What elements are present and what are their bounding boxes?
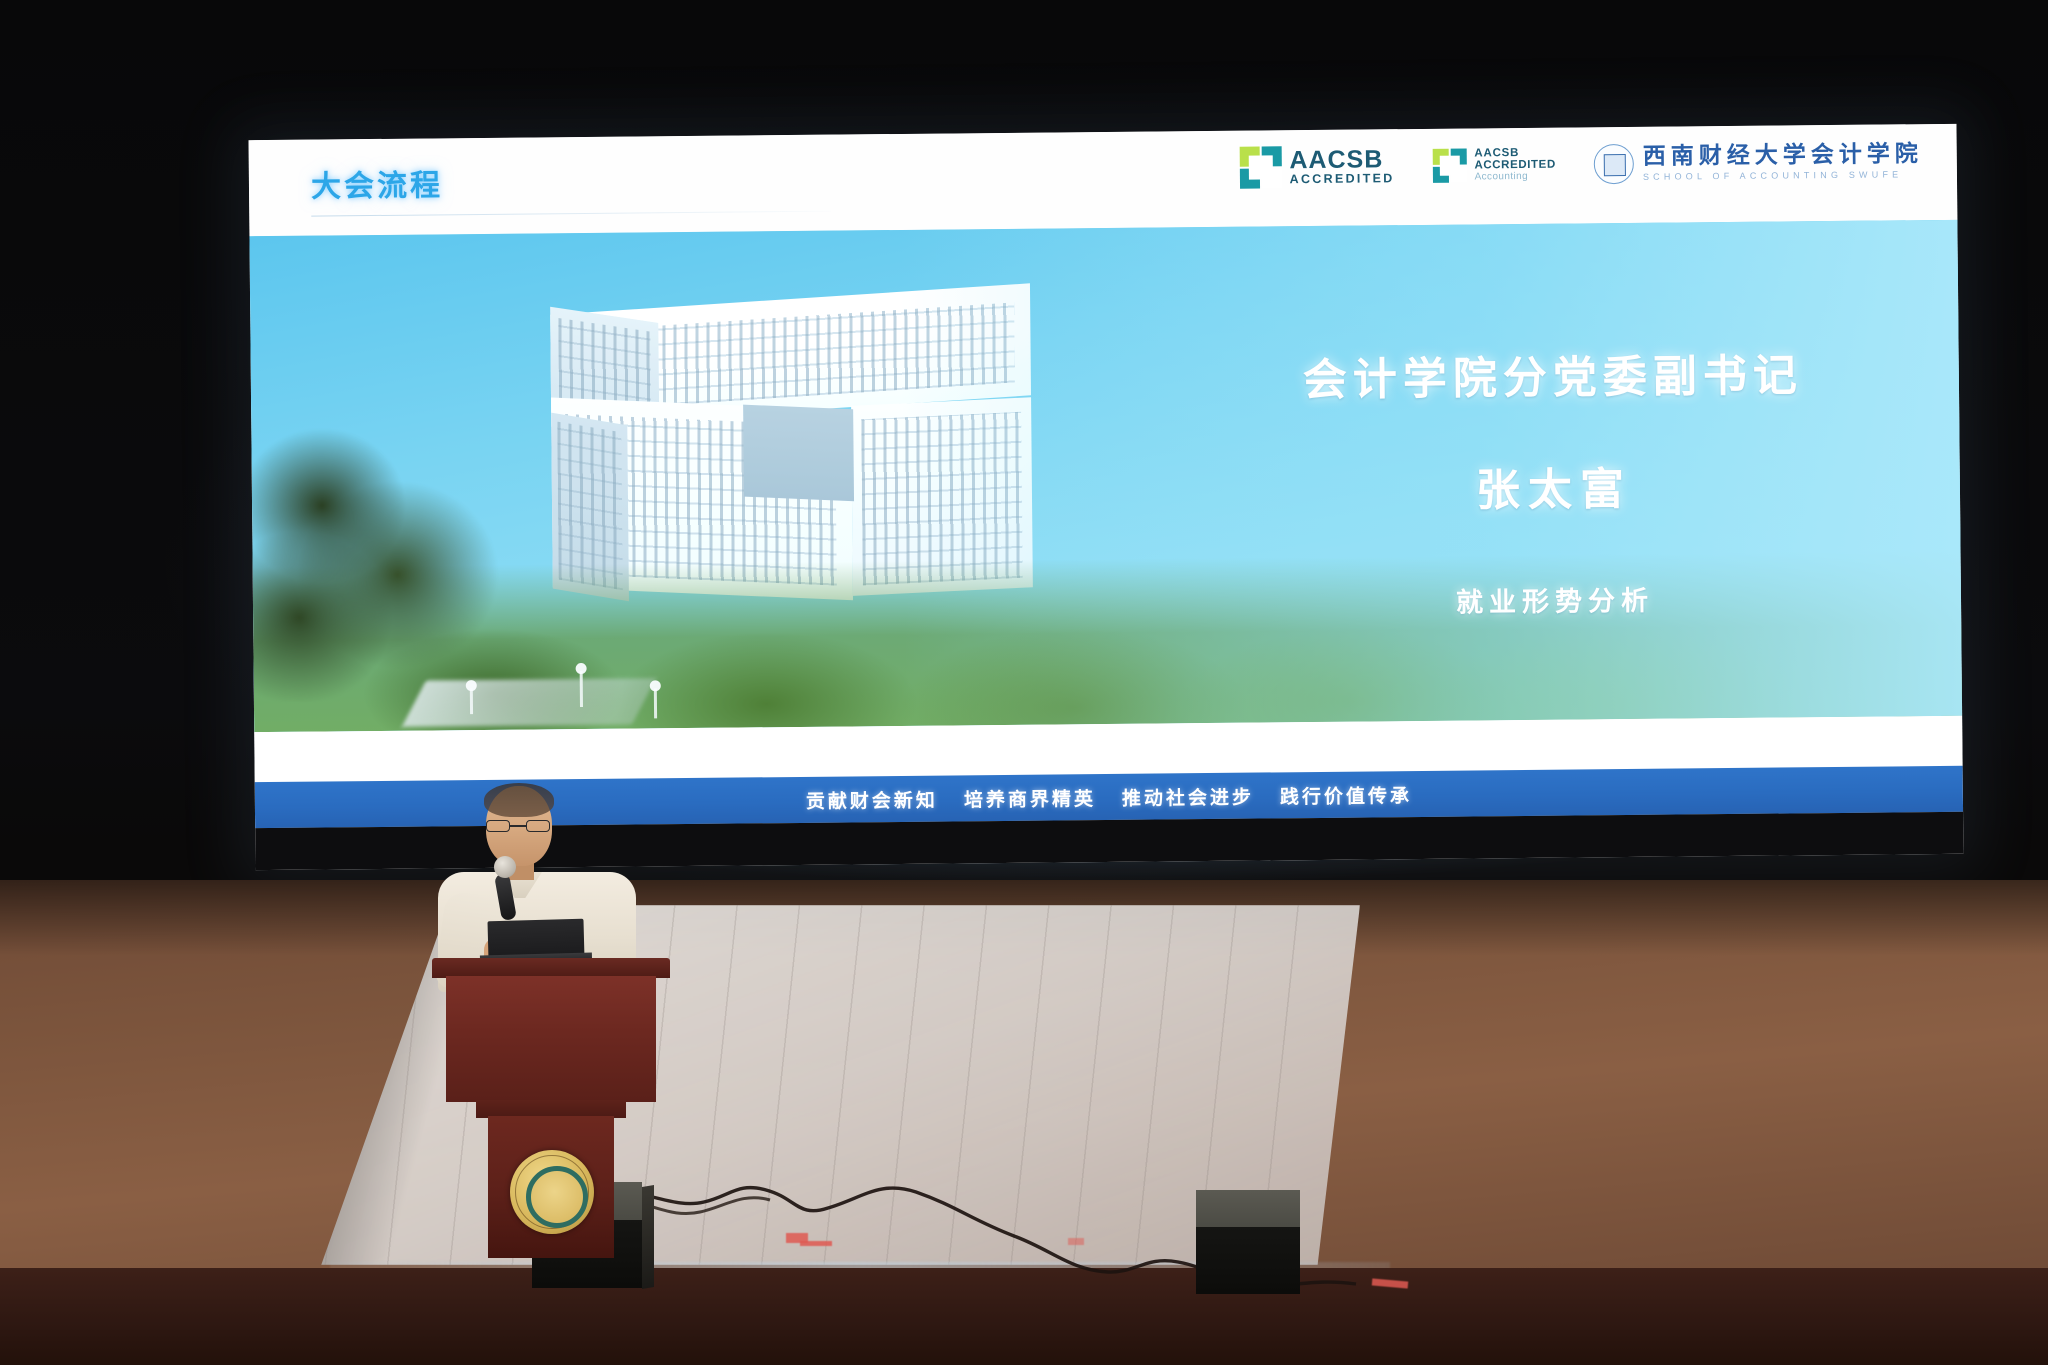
- speaker-name: 张太富: [1234, 451, 1875, 521]
- slide-title: 大会流程: [311, 160, 443, 205]
- slide-photo-campus: 会计学院分党委副书记 张太富 就业形势分析: [249, 220, 1962, 732]
- microphone-head: [494, 856, 516, 878]
- speaker-topic: 就业形势分析: [1235, 577, 1875, 622]
- podium-column: [488, 1116, 614, 1258]
- aacsb-primary-line1: AACSB: [1289, 147, 1394, 174]
- photo-lamp-post: [470, 688, 473, 714]
- stage-monitor-right: [1196, 1190, 1300, 1294]
- emblem-ring: [515, 1155, 589, 1229]
- aacsb-primary-line2: ACCREDITED: [1290, 173, 1395, 187]
- photo-lamp-post: [654, 688, 657, 718]
- university-name-english: SCHOOL OF ACCOUNTING SWUFE: [1643, 170, 1923, 183]
- slide-header: 大会流程 AACSB ACCREDITED: [249, 124, 1958, 236]
- aacsb-primary-text: AACSB ACCREDITED: [1289, 147, 1394, 186]
- building-courtyard-notch: [743, 405, 854, 502]
- university-name-chinese: 西南财经大学会计学院: [1643, 143, 1923, 171]
- podium-front-panel: [446, 976, 656, 1102]
- aacsb-secondary-line3: Accounting: [1475, 171, 1556, 182]
- university-emblem-icon: [510, 1150, 594, 1234]
- auditorium-scene: 大会流程 AACSB ACCREDITED: [0, 0, 2048, 1365]
- university-logo-text: 西南财经大学会计学院 SCHOOL OF ACCOUNTING SWUFE: [1643, 143, 1923, 183]
- aacsb-secondary-logo: AACSB ACCREDITED Accounting: [1432, 148, 1556, 183]
- lectern-podium: [432, 958, 670, 1258]
- motto-phrase-4: 践行价值传承: [1280, 781, 1412, 809]
- slide-logo-bar: AACSB ACCREDITED AACSB ACCREDITED Accoun…: [1239, 140, 1923, 189]
- university-seal-icon: [1594, 144, 1634, 184]
- eyeglasses-icon: [484, 820, 554, 832]
- aacsb-primary-logo: AACSB ACCREDITED: [1239, 145, 1394, 188]
- motto-phrase-2: 培养商界精英: [964, 784, 1096, 812]
- aacsb-secondary-mark-icon: [1432, 149, 1466, 183]
- floor-tape-mark: [1068, 1238, 1084, 1245]
- motto-phrase-3: 推动社会进步: [1122, 782, 1254, 810]
- monitor-cabinet: [1196, 1227, 1300, 1294]
- title-divider: [311, 211, 831, 217]
- presentation-slide: 大会流程 AACSB ACCREDITED: [249, 124, 1964, 870]
- podium-desktop: [432, 958, 670, 978]
- aacsb-secondary-text: AACSB ACCREDITED Accounting: [1474, 148, 1556, 182]
- aacsb-mark-icon: [1239, 146, 1281, 188]
- presenter-hair: [484, 783, 554, 817]
- university-logo: 西南财经大学会计学院 SCHOOL OF ACCOUNTING SWUFE: [1594, 141, 1923, 184]
- slide-speaker-block: 会计学院分党委副书记 张太富 就业形势分析: [1233, 339, 1876, 622]
- photo-walkway: [402, 678, 656, 726]
- photo-foreground-tree: [249, 420, 533, 703]
- floor-tape-mark: [800, 1241, 832, 1246]
- projection-screen: 大会流程 AACSB ACCREDITED: [249, 124, 1964, 870]
- speaker-role: 会计学院分党委副书记: [1233, 339, 1874, 409]
- photo-lamp-post: [580, 671, 583, 707]
- motto-phrase-1: 贡献财会新知: [806, 785, 938, 813]
- stage-front-apron: [0, 1268, 2048, 1365]
- monitor-grille: [1196, 1190, 1300, 1230]
